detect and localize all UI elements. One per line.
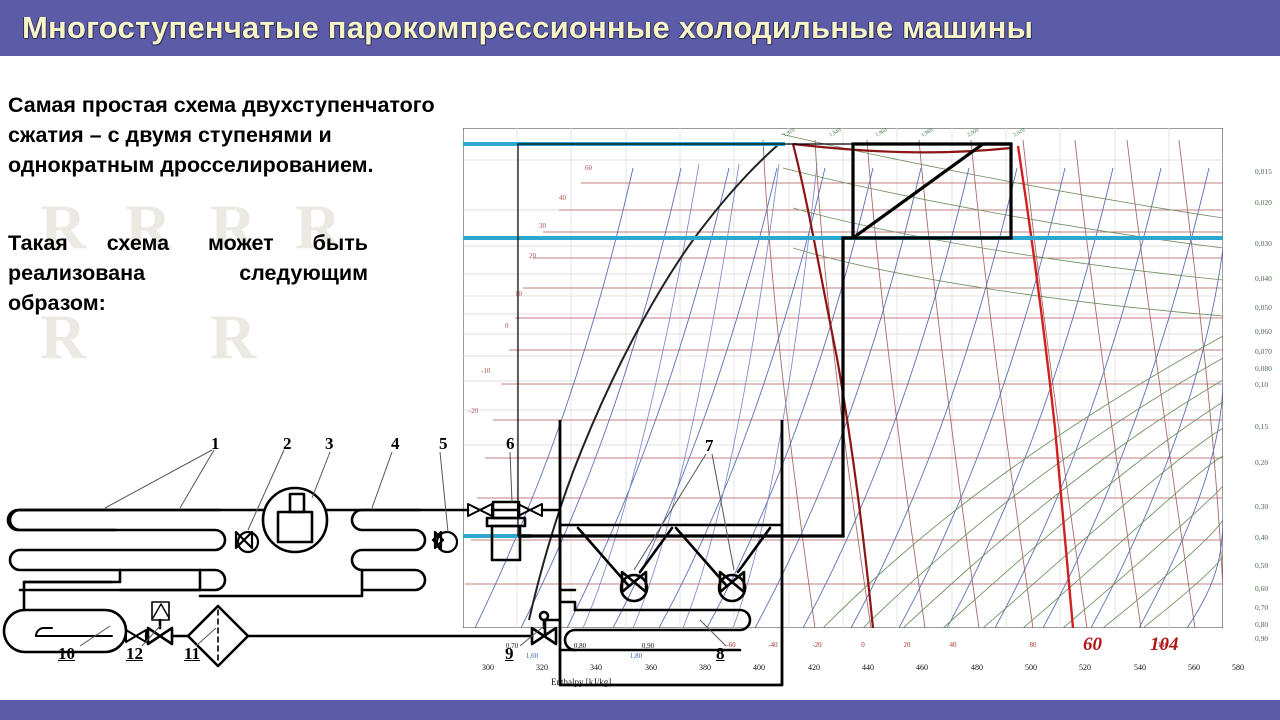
- volume-tick-label: 0,020: [1255, 198, 1272, 207]
- volume-tick-label: 0,30: [1255, 502, 1268, 511]
- volume-tick-label: 0,60: [1255, 584, 1268, 593]
- slide-footer-bar: [0, 700, 1280, 720]
- isotherm-label: -10: [481, 367, 491, 375]
- annotation-temp-104: 104: [1150, 634, 1179, 656]
- callout-leaders: [80, 450, 734, 646]
- valve-right-6: [518, 504, 542, 516]
- callout-8: 8: [716, 644, 725, 664]
- page-title: Многоступенчатые парокомпрессионные холо…: [22, 4, 1262, 52]
- isotherm-label: 30: [539, 222, 547, 230]
- chamber-fan-left: [578, 528, 672, 601]
- callout-5: 5: [439, 434, 448, 454]
- temperature-tick-label: 40: [943, 641, 963, 649]
- x-tick-label: 540: [1125, 663, 1155, 672]
- volume-tick-label: 0,90: [1255, 634, 1268, 643]
- evaporator-coil-1: [8, 510, 225, 590]
- expansion-valve-9: [532, 612, 556, 644]
- fan-icon-1: [236, 532, 258, 552]
- temperature-tick-label: -20: [807, 641, 827, 649]
- isotherm-label: 10: [515, 290, 523, 298]
- cold-chamber-box: [560, 420, 782, 685]
- paragraph-scheme: Такая схема может быть реализована следу…: [8, 228, 368, 318]
- volume-tick-label: 0,15: [1255, 422, 1268, 431]
- paragraph-intro: Самая простая схема двухступенчатого сжа…: [8, 90, 468, 180]
- pipe-evap-return: [120, 570, 200, 590]
- temperature-tick-label: 80: [1023, 641, 1043, 649]
- volume-tick-label: 0,80: [1255, 620, 1268, 629]
- slide-header-bar: Многоступенчатые парокомпрессионные холо…: [0, 0, 1280, 56]
- callout-2: 2: [283, 434, 292, 454]
- isotherm-label: 40: [559, 194, 567, 202]
- volume-tick-label: 0,10: [1255, 380, 1268, 389]
- volume-tick-label: 0,20: [1255, 458, 1268, 467]
- x-tick-label: 520: [1070, 663, 1100, 672]
- volume-tick-label: 0,015: [1255, 167, 1272, 176]
- callout-1: 1: [211, 434, 220, 454]
- isotherm-label: 20: [529, 252, 537, 260]
- compressor: [263, 488, 327, 552]
- chamber-fan-right: [676, 528, 770, 601]
- volume-tick-label: 0,070: [1255, 347, 1272, 356]
- x-tick-label: 460: [907, 663, 937, 672]
- annotation-temp-60: 60: [1083, 634, 1102, 656]
- callout-4: 4: [391, 434, 400, 454]
- callout-6: 6: [506, 434, 515, 454]
- thermostatic-valve: [148, 602, 172, 644]
- isotherm-label: 60: [585, 164, 593, 172]
- valve-left-6: [468, 504, 492, 516]
- callout-12: 12: [126, 644, 143, 664]
- callout-7: 7: [705, 436, 714, 456]
- pipe-to-subcooler: [542, 510, 560, 590]
- isotherm-label: -20: [469, 407, 479, 415]
- x-tick-label: 580: [1223, 663, 1253, 672]
- x-tick-label: 420: [799, 663, 829, 672]
- temperature-tick-label: 0: [853, 641, 873, 649]
- x-tick-label: 560: [1179, 663, 1209, 672]
- x-tick-label: 480: [962, 663, 992, 672]
- x-tick-label: 500: [1016, 663, 1046, 672]
- volume-tick-label: 0,70: [1255, 603, 1268, 612]
- callout-9: 9: [505, 644, 514, 664]
- volume-tick-label: 0,040: [1255, 274, 1272, 283]
- volume-tick-label: 0,50: [1255, 561, 1268, 570]
- temperature-tick-label: 20: [897, 641, 917, 649]
- refrigeration-schematic: [0, 420, 800, 700]
- header-divider: [0, 56, 1280, 62]
- volume-tick-label: 0,40: [1255, 533, 1268, 542]
- isotherm-label: 0: [505, 322, 509, 330]
- slide-root: Многоступенчатые парокомпрессионные холо…: [0, 0, 1280, 720]
- callout-10: 10: [58, 644, 75, 664]
- volume-tick-label: 0,050: [1255, 303, 1272, 312]
- volume-tick-label: 0,030: [1255, 239, 1272, 248]
- evaporator-coil-2: [560, 602, 750, 650]
- fan-icon-2: [433, 532, 457, 552]
- check-valve: [126, 630, 146, 642]
- callout-11: 11: [184, 644, 200, 664]
- volume-tick-label: 0,060: [1255, 327, 1272, 336]
- volume-tick-label: 0,080: [1255, 364, 1272, 373]
- x-tick-label: 440: [853, 663, 883, 672]
- callout-3: 3: [325, 434, 334, 454]
